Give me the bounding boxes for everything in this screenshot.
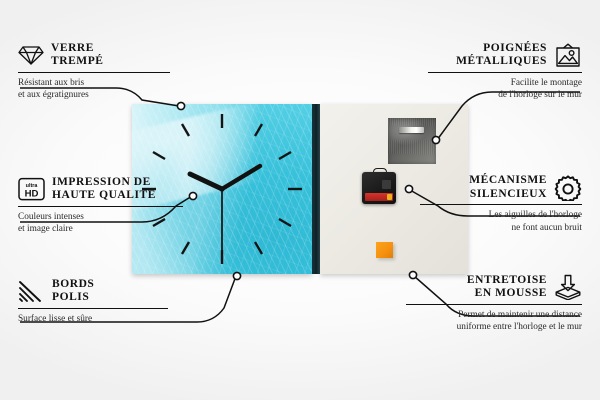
callout-rule <box>420 204 582 205</box>
callout-entretoise-en-mousse: ENTRETOISE EN MOUSSE Permet de maintenir… <box>406 274 582 334</box>
callout-title: ENTRETOISE EN MOUSSE <box>467 274 547 301</box>
callout-title: VERRE TREMPÉ <box>51 42 104 69</box>
ultra-hd-icon: ultra HD <box>18 177 45 201</box>
callout-poignees-metalliques: POIGNÉES MÉTALLIQUES Facilite le montage… <box>428 42 582 102</box>
callout-rule <box>18 308 168 309</box>
foam-spacer <box>376 242 393 258</box>
hanger-slot <box>399 127 424 133</box>
callout-verre-trempe: VERRE TREMPÉ Résistant aux bris et aux é… <box>18 42 170 102</box>
foam-spacer-arrow-icon <box>554 274 582 300</box>
picture-frame-hanger-icon <box>554 43 582 68</box>
callout-title: BORDS POLIS <box>52 278 94 305</box>
callout-mecanisme-silencieux: MÉCANISME SILENCIEUX Les aiguilles de l'… <box>420 174 582 234</box>
clock-center-pin <box>219 186 224 191</box>
clock-dial <box>132 104 312 274</box>
product-infographic: VERRE TREMPÉ Résistant aux bris et aux é… <box>0 0 600 400</box>
callout-description: Les aiguilles de l'horloge ne font aucun… <box>420 209 582 234</box>
silent-clock-mechanism <box>362 168 396 204</box>
callout-rule <box>428 72 582 73</box>
callout-title: MÉCANISME SILENCIEUX <box>469 174 547 201</box>
product-photo <box>132 104 468 276</box>
callout-rule <box>406 304 582 305</box>
callout-description: Surface lisse et sûre <box>18 313 168 325</box>
polished-edges-icon <box>18 280 45 303</box>
callout-title: POIGNÉES MÉTALLIQUES <box>456 42 547 69</box>
clock-glass-edge <box>312 104 320 274</box>
mechanism-body <box>362 172 396 204</box>
callout-description: Facilite le montage de l'horloge sur le … <box>428 77 582 102</box>
diamond-icon <box>18 44 44 66</box>
callout-bords-polis: BORDS POLIS Surface lisse et sûre <box>18 278 168 325</box>
mechanism-battery <box>365 193 393 201</box>
callout-description: Résistant aux bris et aux égratignures <box>18 77 170 102</box>
svg-text:HD: HD <box>25 189 39 200</box>
glass-clock-face <box>132 104 312 274</box>
gear-icon <box>554 174 582 201</box>
metal-hanger-plate <box>388 118 436 164</box>
callout-description: Permet de maintenir une distance uniform… <box>406 309 582 334</box>
callout-rule <box>18 72 170 73</box>
mechanism-detail <box>382 180 391 189</box>
